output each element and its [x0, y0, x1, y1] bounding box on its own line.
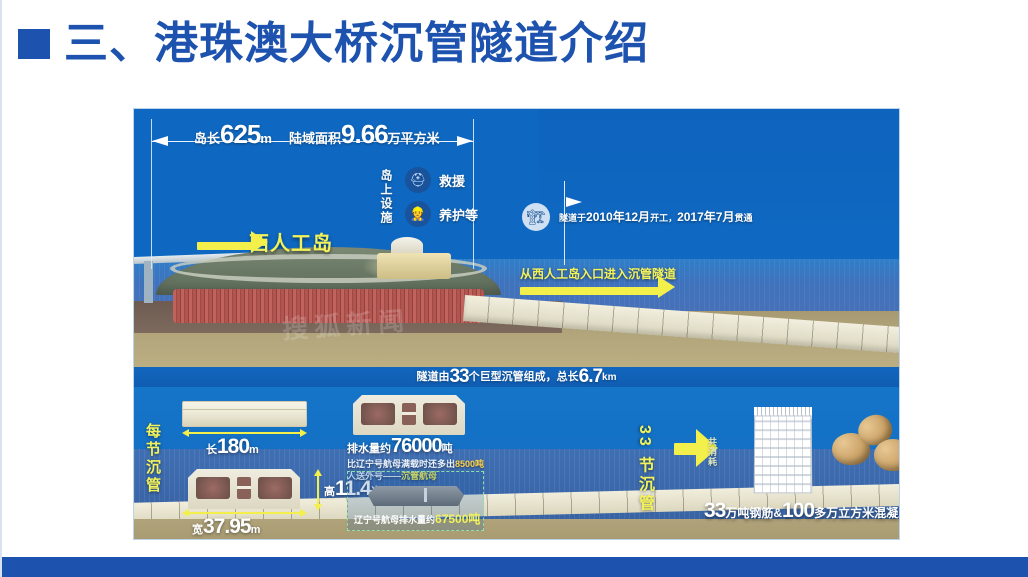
tube-length-prefix: 长	[206, 444, 217, 456]
island-area-unit: 万平方米	[388, 131, 440, 146]
construction-prefix: 隧道于	[559, 213, 586, 223]
materials-total-label: 33万吨钢筋&100多万立方米混凝土	[704, 499, 899, 523]
pointer-arrow-island-head-icon	[251, 231, 268, 253]
crane-icon: 🏗	[522, 203, 550, 231]
dimension-arrow-left-icon	[152, 136, 168, 146]
height-cap-bottom-icon	[314, 504, 322, 511]
island-length-unit: m	[260, 131, 272, 146]
pointer-arrow-entry-shaft	[520, 287, 660, 295]
concrete-value: 100	[782, 499, 814, 522]
tunnel-entry-note: 从西人工岛入口进入沉管隧道	[520, 265, 676, 282]
tube-top-view-diagram	[182, 401, 307, 427]
tube-cross-section-diagram-2	[353, 395, 465, 435]
banner-length-unit: km	[602, 372, 616, 383]
rebar-value: 33	[704, 499, 725, 522]
displacement-prefix: 排水量约	[347, 443, 391, 455]
pointer-arrow-materials-shaft	[674, 443, 698, 455]
construction-start-suffix: 开工，	[650, 213, 677, 223]
island-facilities-group: 岛上设施 ⛑ 救援 👷 养护等	[381, 165, 501, 239]
width-cap-right-icon	[300, 509, 307, 517]
tube2-gallery-divider	[402, 412, 416, 415]
island-length-label: 岛长625m	[194, 119, 272, 150]
tube-count-label: 33 节沉管	[632, 425, 656, 513]
island-steel-cylinder-wall	[173, 289, 484, 323]
tunnel-summary-text: 隧道由33个巨型沉管组成，总长6.7km	[416, 366, 616, 388]
carrier-caption-value: 67500吨	[435, 512, 480, 526]
island-building	[377, 253, 451, 279]
displacement-unit: 吨	[442, 443, 453, 455]
maintenance-icon: 👷	[405, 201, 431, 227]
infographic-figure: 岛长625m 陆域面积9.66万平方米 岛上设施 ⛑ 救援 👷 养护等 🏗	[133, 108, 900, 540]
length-cap-right-icon	[300, 429, 307, 437]
consume-label: 共消耗	[706, 437, 719, 467]
banner-total-length: 6.7	[579, 366, 602, 387]
tube-cross-section-diagram	[188, 469, 300, 509]
facility-label-maintenance: 养护等	[439, 205, 478, 224]
height-measure-bar	[314, 469, 322, 511]
concrete-unit: 多万立方米混凝土	[814, 506, 899, 520]
rebar-stack-icon	[748, 405, 818, 497]
carrier-comparison-value-1: 8500吨	[455, 459, 484, 469]
title-text: 三、港珠澳大桥沉管隧道介绍	[64, 22, 649, 66]
tube-width-value: 37.95	[203, 515, 251, 538]
tube-length-label: 长180m	[206, 435, 259, 459]
construction-start-date: 2010年12月	[586, 210, 650, 224]
pointer-arrow-island-shaft	[197, 242, 253, 250]
pointer-arrow-entry-head-icon	[658, 276, 675, 298]
each-tube-label: 每节沉管	[142, 423, 163, 495]
island-area-value: 9.66	[341, 119, 388, 149]
materials-amp: &	[773, 506, 782, 520]
footer-bar	[2, 557, 1028, 577]
island-area-label: 陆域面积9.66万平方米	[289, 119, 440, 150]
tube-width-unit: m	[251, 524, 261, 536]
facility-item-rescue: ⛑ 救援	[405, 167, 465, 193]
concrete-aggregate-icon	[832, 415, 899, 481]
tunnel-summary-banner: 隧道由33个巨型沉管组成，总长6.7km	[134, 367, 899, 387]
tube-gallery-divider	[237, 486, 251, 489]
island-length-prefix: 岛长	[194, 131, 220, 146]
island-length-value: 625	[220, 119, 260, 149]
page-title: 三、港珠澳大桥沉管隧道介绍	[18, 22, 649, 66]
height-cap-top-icon	[314, 469, 322, 476]
tube2-bore-left	[361, 403, 395, 425]
construction-timeline-text: 隧道于2010年12月开工，2017年7月贯通	[559, 208, 752, 226]
banner-tube-count: 33	[449, 366, 468, 387]
width-cap-left-icon	[182, 509, 189, 517]
length-cap-left-icon	[182, 429, 189, 437]
carrier-caption: 辽宁号航母排水量约67500吨	[354, 510, 479, 528]
island-dome	[391, 237, 423, 253]
rebar-unit: 万吨钢筋	[725, 506, 773, 520]
tube-width-label: 宽37.95m	[192, 515, 260, 539]
bottom-scene: 每节沉管 长180m	[134, 387, 899, 540]
west-artificial-island	[156, 247, 501, 319]
dimension-arrow-right-icon	[457, 136, 473, 146]
carrier-caption-prefix: 辽宁号航母排水量约	[354, 515, 435, 525]
title-bullet-icon	[18, 29, 50, 59]
banner-prefix: 隧道由	[416, 371, 449, 383]
rescue-icon: ⛑	[405, 167, 431, 193]
construction-through-date: 2017年7月	[677, 210, 734, 224]
facility-label-rescue: 救援	[439, 171, 465, 190]
tube-length-unit: m	[249, 444, 259, 456]
tube-length-value: 180	[217, 435, 249, 458]
tube2-bore-right	[423, 403, 457, 425]
carrier-comparison-text-1: 比辽宁号航母满载时还多出	[347, 459, 455, 469]
island-area-prefix: 陆域面积	[289, 131, 341, 146]
facility-item-maintenance: 👷 养护等	[405, 201, 478, 227]
rebar-stack-face	[754, 415, 812, 493]
aircraft-carrier-icon	[368, 486, 464, 506]
tube-bore-left	[196, 477, 230, 499]
tube-width-prefix: 宽	[192, 524, 203, 536]
displacement-value: 76000	[391, 435, 442, 457]
construction-timeline-note: 🏗 隧道于2010年12月开工，2017年7月贯通	[522, 203, 752, 231]
displacement-label: 排水量约76000吨	[347, 435, 453, 458]
carrier-mast	[424, 488, 427, 502]
width-bar	[189, 512, 300, 514]
banner-middle: 个巨型沉管组成，总长	[469, 371, 579, 383]
tube-bore-right	[258, 477, 292, 499]
height-bar	[317, 476, 319, 504]
length-bar	[189, 432, 300, 434]
tube-height-prefix: 高	[324, 486, 335, 498]
facilities-label: 岛上设施	[381, 169, 395, 225]
gravel-pile-3	[874, 439, 899, 471]
top-scene: 岛长625m 陆域面积9.66万平方米 岛上设施 ⛑ 救援 👷 养护等 🏗	[134, 109, 899, 367]
construction-through-suffix: 贯通	[734, 213, 752, 223]
slide-root: 三、港珠澳大桥沉管隧道介绍	[0, 0, 1028, 577]
liaoning-carrier-callout: 辽宁号航母排水量约67500吨	[347, 471, 484, 531]
